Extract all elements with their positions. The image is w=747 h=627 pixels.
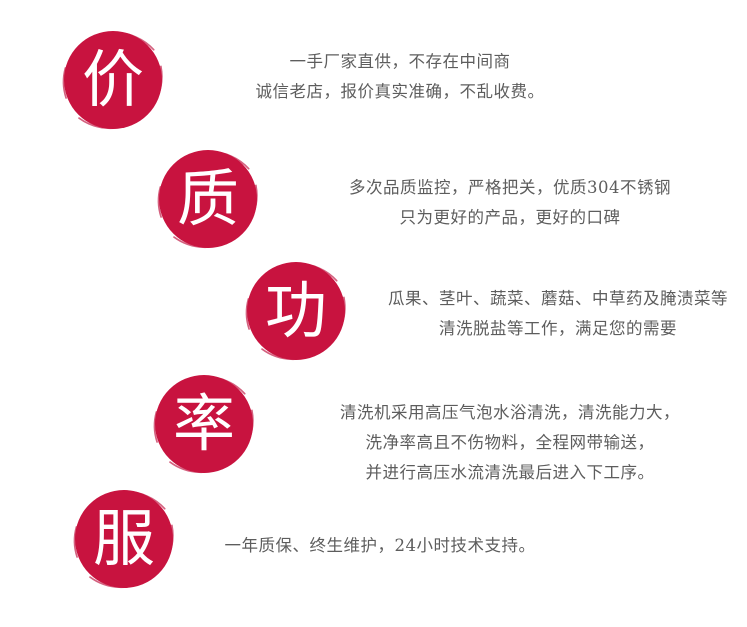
badge-service: 服 — [68, 483, 180, 595]
badge-character-price: 价 — [64, 31, 162, 129]
badge-function: 功 — [240, 255, 352, 367]
desc-line: 多次品质监控，严格把关，优质304不锈钢 — [300, 173, 720, 203]
desc-line: 瓜果、茎叶、蔬菜、蘑菇、中草药及腌渍菜等 — [368, 284, 747, 314]
badge-character-efficiency: 率 — [155, 375, 253, 473]
feature-description-service: 一年质保、终生维护，24小时技术支持。 — [200, 531, 560, 561]
desc-line: 只为更好的产品，更好的口碑 — [300, 203, 720, 233]
badge-price: 价 — [57, 24, 169, 136]
badge-character-service: 服 — [75, 490, 173, 588]
desc-line: 一年质保、终生维护，24小时技术支持。 — [200, 531, 560, 561]
badge-character-function: 功 — [247, 262, 345, 360]
desc-line: 清洗机采用高压气泡水浴清洗，清洗能力大， — [272, 398, 747, 428]
feature-description-efficiency: 清洗机采用高压气泡水浴清洗，清洗能力大， 洗净率高且不伤物料，全程网带输送， 并… — [272, 398, 747, 488]
desc-line: 并进行高压水流清洗最后进入下工序。 — [272, 458, 747, 488]
badge-efficiency: 率 — [148, 368, 260, 480]
desc-line: 清洗脱盐等工作，满足您的需要 — [368, 314, 747, 344]
feature-description-price: 一手厂家直供，不存在中间商 诚信老店，报价真实准确，不乱收费。 — [200, 47, 600, 107]
badge-quality: 质 — [152, 143, 264, 255]
desc-line: 诚信老店，报价真实准确，不乱收费。 — [200, 77, 600, 107]
feature-description-function: 瓜果、茎叶、蔬菜、蘑菇、中草药及腌渍菜等 清洗脱盐等工作，满足您的需要 — [368, 284, 747, 344]
desc-line: 一手厂家直供，不存在中间商 — [200, 47, 600, 77]
feature-list-page: 价 一手厂家直供，不存在中间商 诚信老店，报价真实准确，不乱收费。 质 多次品质… — [0, 0, 747, 627]
feature-description-quality: 多次品质监控，严格把关，优质304不锈钢 只为更好的产品，更好的口碑 — [300, 173, 720, 233]
desc-line: 洗净率高且不伤物料，全程网带输送， — [272, 428, 747, 458]
badge-character-quality: 质 — [159, 150, 257, 248]
